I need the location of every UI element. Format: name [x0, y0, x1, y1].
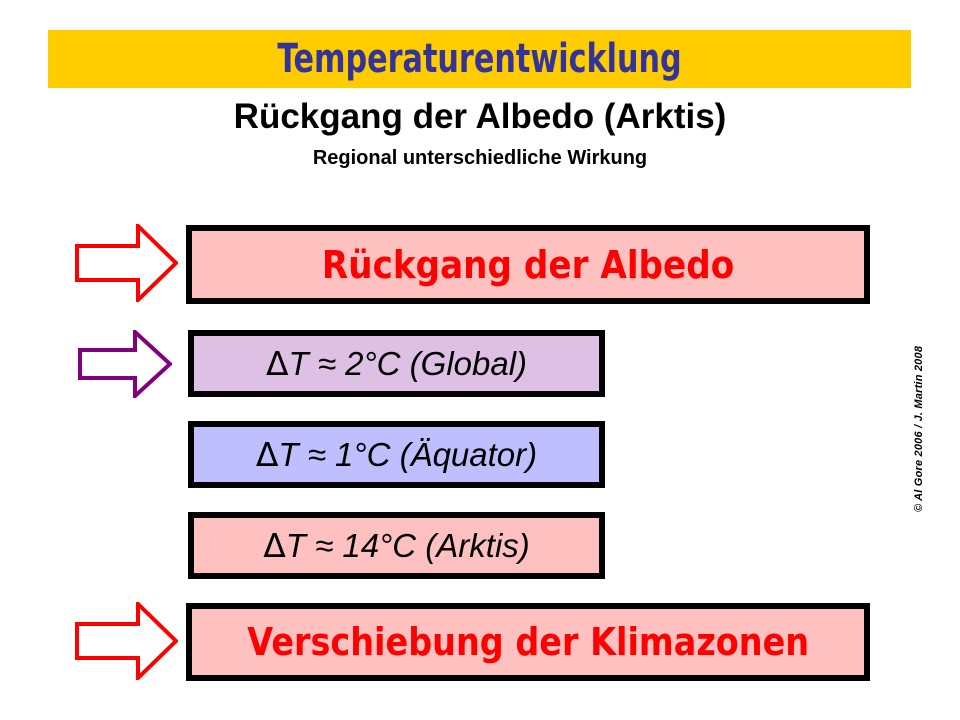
slide-canvas: Temperaturentwicklung Rückgang der Albed… — [0, 0, 960, 720]
box-delta-t-equator-text: T ≈ 1°C (Äquator) — [278, 436, 537, 473]
box-delta-t-arctic-label: ΔT ≈ 14°C (Arktis) — [263, 526, 530, 565]
box-delta-t-arctic-text: T ≈ 14°C (Arktis) — [286, 527, 530, 564]
subheadline: Regional unterschiedliche Wirkung — [0, 147, 960, 170]
arrow-right-icon-to-delta-t-global — [78, 330, 172, 398]
page-title: Temperaturentwicklung — [117, 34, 842, 84]
arrow-right-icon-to-climate-shift — [75, 602, 178, 680]
box-delta-t-global[interactable]: ΔT ≈ 2°C (Global) — [188, 330, 605, 397]
box-delta-t-equator-label: ΔT ≈ 1°C (Äquator) — [256, 435, 537, 474]
box-climate-zone-shift[interactable]: Verschiebung der Klimazonen — [186, 603, 870, 681]
box-delta-t-global-label: ΔT ≈ 2°C (Global) — [266, 344, 527, 383]
box-delta-t-global-text: T ≈ 2°C (Global) — [289, 345, 528, 382]
copyright-notice: © Al Gore 2006 / J. Martin 2008 — [913, 312, 935, 512]
box-delta-t-arctic[interactable]: ΔT ≈ 14°C (Arktis) — [188, 512, 605, 579]
box-delta-t-equator[interactable]: ΔT ≈ 1°C (Äquator) — [188, 421, 605, 488]
headline: Rückgang der Albedo (Arktis) — [0, 97, 960, 137]
box-albedo-decline[interactable]: Rückgang der Albedo — [186, 225, 870, 304]
delta-symbol: Δ — [266, 344, 289, 383]
box-climate-zone-shift-label: Verschiebung der Klimazonen — [247, 620, 809, 664]
arrow-right-icon-to-albedo-decline — [75, 224, 178, 302]
box-albedo-decline-label: Rückgang der Albedo — [322, 243, 734, 287]
delta-symbol: Δ — [263, 526, 286, 565]
delta-symbol: Δ — [256, 435, 279, 474]
